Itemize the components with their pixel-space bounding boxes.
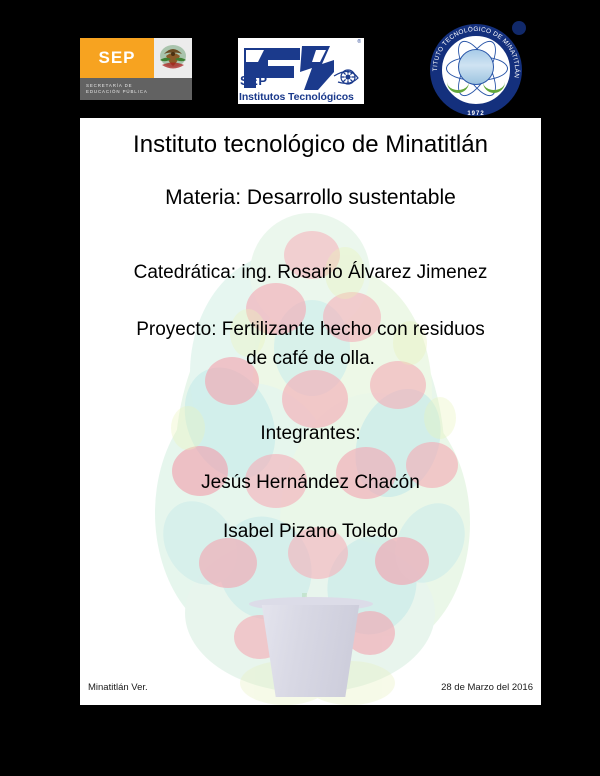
tecnm-subtitle-label: Institutos Tecnológicos: [239, 91, 354, 103]
spacer: [86, 373, 535, 419]
sep-logo-top: SEP: [80, 38, 192, 78]
spacer: [86, 497, 535, 517]
sep-caption-line2: EDUCACIÓN PÚBLICA: [86, 89, 192, 96]
member-name-2: Isabel Pizano Toledo: [86, 517, 535, 546]
sep-acronym-label: SEP: [98, 48, 135, 68]
spacer: [86, 287, 535, 315]
sep-orange-block: SEP: [80, 38, 154, 78]
footer-date: 28 de Marzo del 2016: [441, 682, 533, 693]
page-footer: Minatitlán Ver. 28 de Marzo del 2016: [80, 682, 541, 693]
footer-place: Minatitlán Ver.: [88, 682, 148, 693]
document-page: Instituto tecnológico de Minatitlán Mate…: [80, 118, 541, 705]
tecnm-acronym-label: SEP: [240, 73, 268, 88]
seal-corner-mark-icon: [512, 21, 526, 35]
instituto-tecnologico-minatitlan-seal: INSTITUTO TECNOLÓGICO DE MINATITLÁN 1972: [430, 24, 522, 116]
members-label: Integrantes:: [86, 419, 535, 448]
institution-title: Instituto tecnológico de Minatitlán: [86, 130, 535, 160]
mexican-eagle-emblem-icon: [154, 38, 192, 78]
sep-logo-caption: SECRETARÍA DE EDUCACIÓN PÚBLICA: [80, 78, 192, 100]
registered-trademark-icon: ®: [357, 39, 361, 45]
project-line-1: Proyecto: Fertilizante hecho con residuo…: [86, 315, 535, 344]
cover-text-block: Instituto tecnológico de Minatitlán Mate…: [80, 130, 541, 546]
member-name-1: Jesús Hernández Chacón: [86, 468, 535, 497]
seal-inner-disc: [441, 35, 511, 105]
sep-institutos-tecnologicos-logo: SEP Institutos Tecnológicos ®: [238, 38, 364, 104]
seal-year-label: 1972: [430, 111, 522, 117]
spacer: [86, 448, 535, 468]
eagle-emblem-svg: [154, 38, 192, 78]
professor-line: Catedrática: ing. Rosario Álvarez Jimene…: [86, 258, 535, 287]
project-line-2: de café de olla.: [86, 344, 535, 373]
subject-line: Materia: Desarrollo sustentable: [86, 184, 535, 212]
logo-band: SEP SECRETARÍA DE EDUCACIÓN PÚBLICA: [0, 0, 600, 118]
sep-logo: SEP SECRETARÍA DE EDUCACIÓN PÚBLICA: [80, 38, 192, 100]
spacer: [86, 212, 535, 258]
plant-pot-rim: [249, 597, 373, 611]
